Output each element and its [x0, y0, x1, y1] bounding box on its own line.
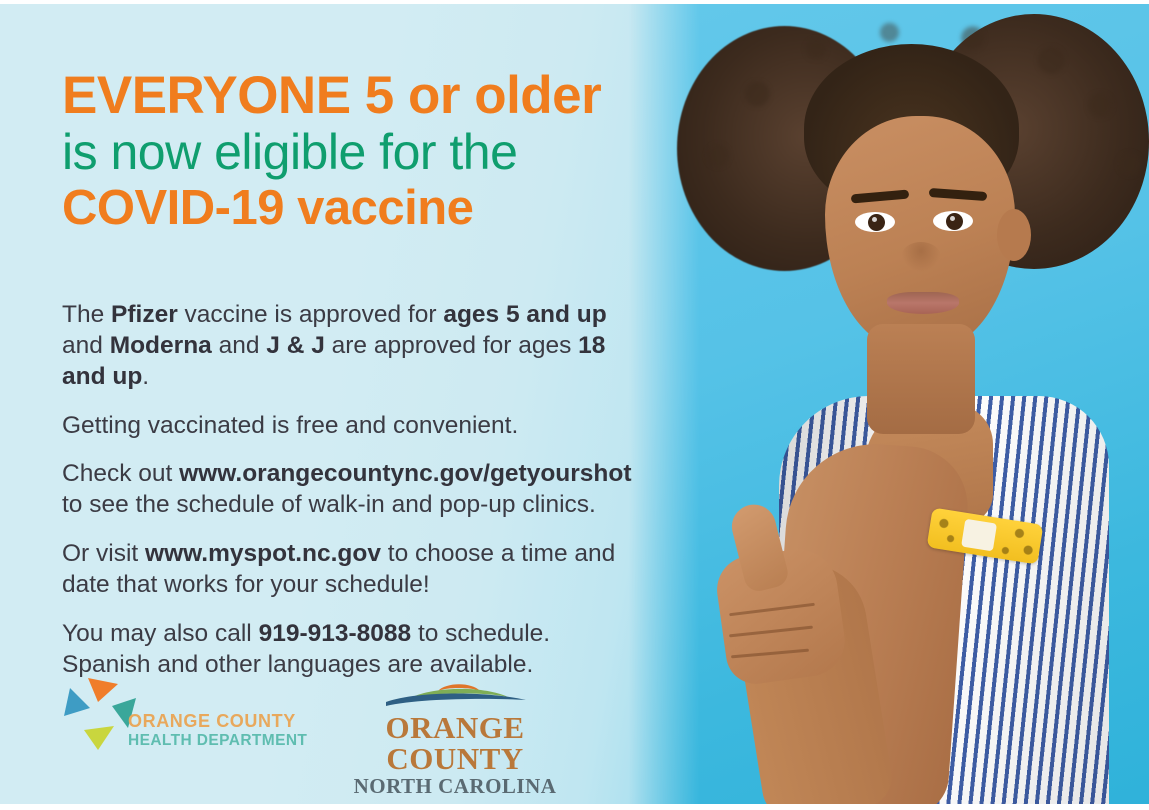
headline-line-2: is now eligible for the [62, 126, 662, 179]
text-fragment: and [212, 332, 267, 359]
paragraph-check-out: Check out www.orangecountync.gov/getyour… [62, 459, 642, 521]
orange-county-nc-logo: ORANGE COUNTY NORTH CAROLINA [330, 680, 580, 760]
brand-jj: J & J [266, 332, 325, 359]
text-fragment: to see the schedule of walk-in and pop-u… [62, 491, 596, 518]
text-fragment: Or visit [62, 540, 145, 567]
nose [901, 242, 941, 272]
phone-number[interactable]: 919-913-8088 [259, 620, 412, 647]
paragraph-or-visit: Or visit www.myspot.nc.gov to choose a t… [62, 539, 642, 601]
face [825, 116, 1015, 351]
text-fragment: Check out [62, 460, 179, 487]
body-copy: The Pfizer vaccine is approved for ages … [62, 300, 642, 681]
mouth [887, 292, 959, 314]
paragraph-free-convenient: Getting vaccinated is free and convenien… [62, 411, 642, 442]
ocnc-line-2: NORTH CAROLINA [330, 776, 580, 797]
brand-moderna: Moderna [110, 332, 212, 359]
girl-photo [629, 4, 1149, 804]
pinwheel-triangles-icon [62, 676, 138, 752]
orange-county-health-department-logo: ORANGE COUNTY HEALTH DEPARTMENT [62, 676, 312, 762]
landscape-swoosh-icon [380, 680, 530, 710]
eye-left [855, 212, 895, 232]
headline-line-3: COVID-19 vaccine [62, 183, 662, 235]
iris-right [946, 213, 963, 230]
brand-pfizer: Pfizer [111, 301, 178, 328]
paragraph-vaccine-approval: The Pfizer vaccine is approved for ages … [62, 300, 642, 393]
link-orangecountync[interactable]: www.orangecountync.gov/getyourshot [179, 460, 631, 487]
text-fragment: . [142, 363, 149, 390]
text-fragment: vaccine is approved for [178, 301, 444, 328]
text-fragment: The [62, 301, 111, 328]
text-fragment: You may also call [62, 620, 259, 647]
ochd-line-2: HEALTH DEPARTMENT [128, 733, 307, 749]
ear [997, 209, 1031, 261]
paragraph-phone: You may also call 919-913-8088 to schedu… [62, 619, 642, 681]
headline-line-1: EVERYONE 5 or older [62, 68, 662, 124]
text-fragment: and [62, 332, 110, 359]
ocnc-line-1: ORANGE COUNTY [330, 712, 580, 774]
health-department-wordmark: ORANGE COUNTY HEALTH DEPARTMENT [128, 712, 307, 749]
headline: EVERYONE 5 or older is now eligible for … [62, 68, 662, 235]
ochd-line-1: ORANGE COUNTY [128, 712, 307, 730]
neck [867, 324, 975, 434]
text-fragment: are approved for ages [325, 332, 578, 359]
iris-left [868, 214, 885, 231]
vaccine-poster: EVERYONE 5 or older is now eligible for … [0, 0, 1149, 810]
age-ages-5-and-up: ages 5 and up [443, 301, 606, 328]
eye-right [933, 211, 973, 231]
link-myspot[interactable]: www.myspot.nc.gov [145, 540, 381, 567]
